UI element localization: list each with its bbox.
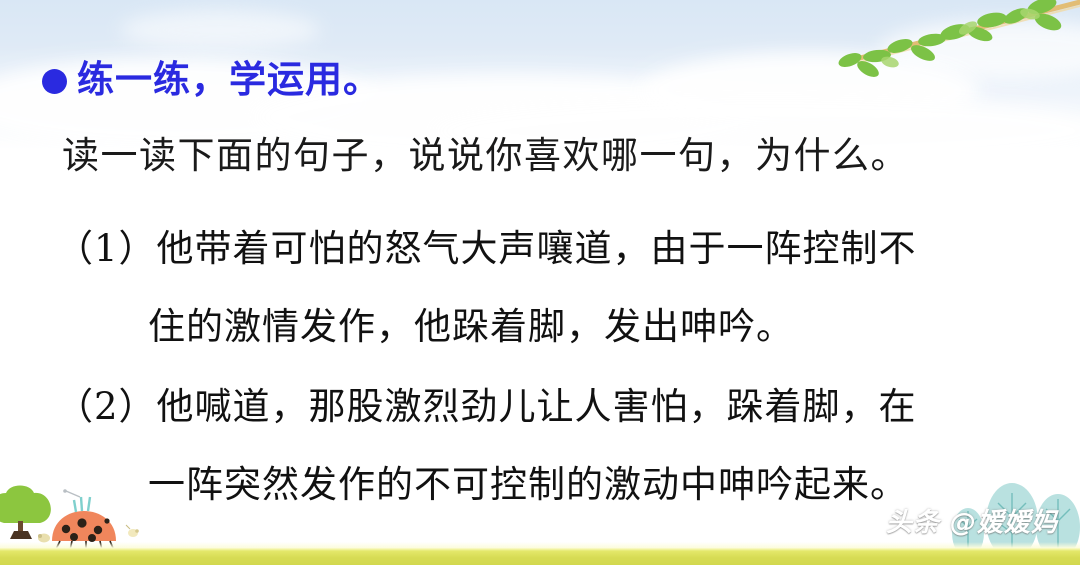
item-line: （1）他带着可怕的怒气大声嚷道，由于一阵控制不: [56, 210, 917, 288]
bullet-icon: [42, 69, 67, 94]
heading-text: 练一练，学运用。: [77, 58, 381, 102]
slide-content: 练一练，学运用。 读一读下面的句子，说说你喜欢哪一句，为什么。 （1）他带着可怕…: [0, 0, 1080, 565]
item-line: 一阵突然发作的不可控制的激动中呻吟起来。: [56, 446, 917, 524]
item-line: （2）他喊道，那股激烈劲儿让人害怕，跺着脚，在: [56, 368, 917, 446]
slide-heading: 练一练，学运用。: [42, 58, 381, 102]
list-item: （1）他带着可怕的怒气大声嚷道，由于一阵控制不 住的激情发作，他跺着脚，发出呻吟…: [56, 210, 917, 366]
slide-canvas: 练一练，学运用。 读一读下面的句子，说说你喜欢哪一句，为什么。 （1）他带着可怕…: [0, 0, 1080, 565]
item-line: 住的激情发作，他跺着脚，发出呻吟。: [56, 288, 917, 366]
list-item: （2）他喊道，那股激烈劲儿让人害怕，跺着脚，在 一阵突然发作的不可控制的激动中呻…: [56, 368, 917, 524]
instruction-text: 读一读下面的句子，说说你喜欢哪一句，为什么。: [62, 132, 909, 180]
